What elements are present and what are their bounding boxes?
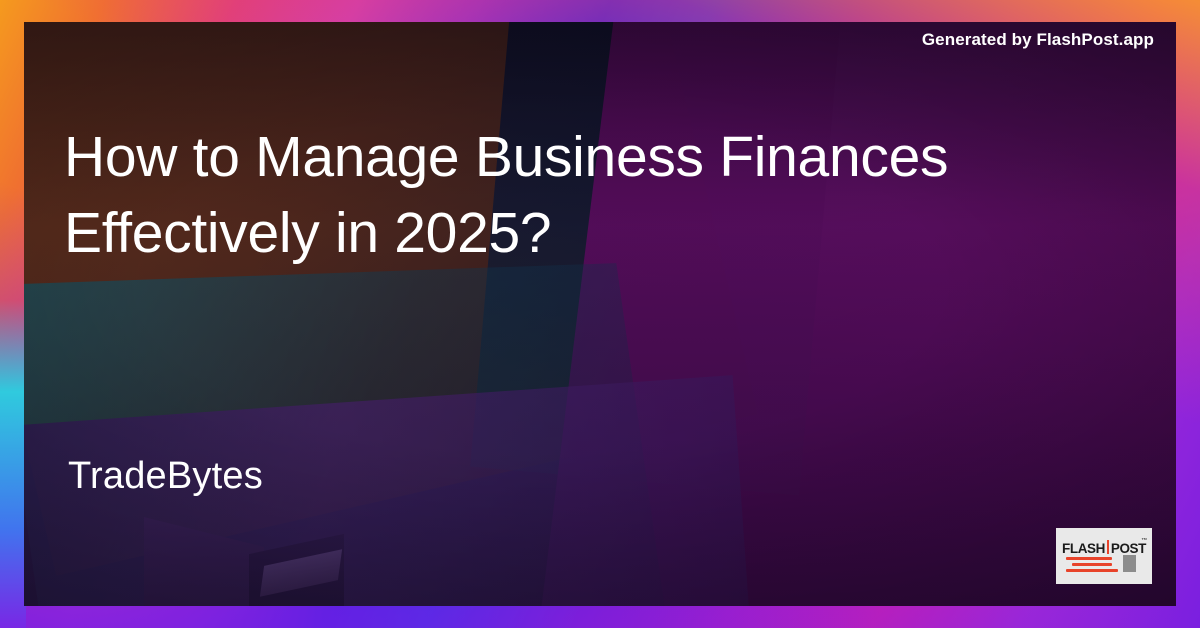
- logo-text-post: POST: [1111, 542, 1146, 556]
- headline-title: How to Manage Business Finances Effectiv…: [64, 120, 1124, 272]
- logo-block-icon: [1123, 555, 1136, 572]
- logo-divider-bar: [1107, 540, 1109, 554]
- logo-stroke-bottom: [1066, 569, 1118, 572]
- flashpost-logo-wordmark: FLASH POST ™: [1062, 535, 1146, 556]
- attribution-label: Generated by FlashPost.app: [922, 30, 1154, 50]
- logo-text-flash: FLASH: [1062, 542, 1105, 556]
- logo-speed-lines-icon: [1066, 557, 1142, 573]
- logo-stroke-top: [1066, 557, 1112, 560]
- brand-name: TradeBytes: [68, 455, 263, 498]
- logo-stroke-middle: [1072, 563, 1112, 566]
- gradient-border-cyan-accent: [0, 300, 26, 628]
- logo-trademark-icon: ™: [1141, 538, 1147, 544]
- flashpost-logo-inner: FLASH POST ™: [1062, 535, 1146, 577]
- artwork-panel: [24, 22, 1176, 606]
- social-card-canvas: Generated by FlashPost.app How to Manage…: [0, 0, 1200, 628]
- flashpost-logo-badge[interactable]: FLASH POST ™: [1056, 528, 1152, 584]
- artwork-darken-overlay: [24, 22, 1176, 606]
